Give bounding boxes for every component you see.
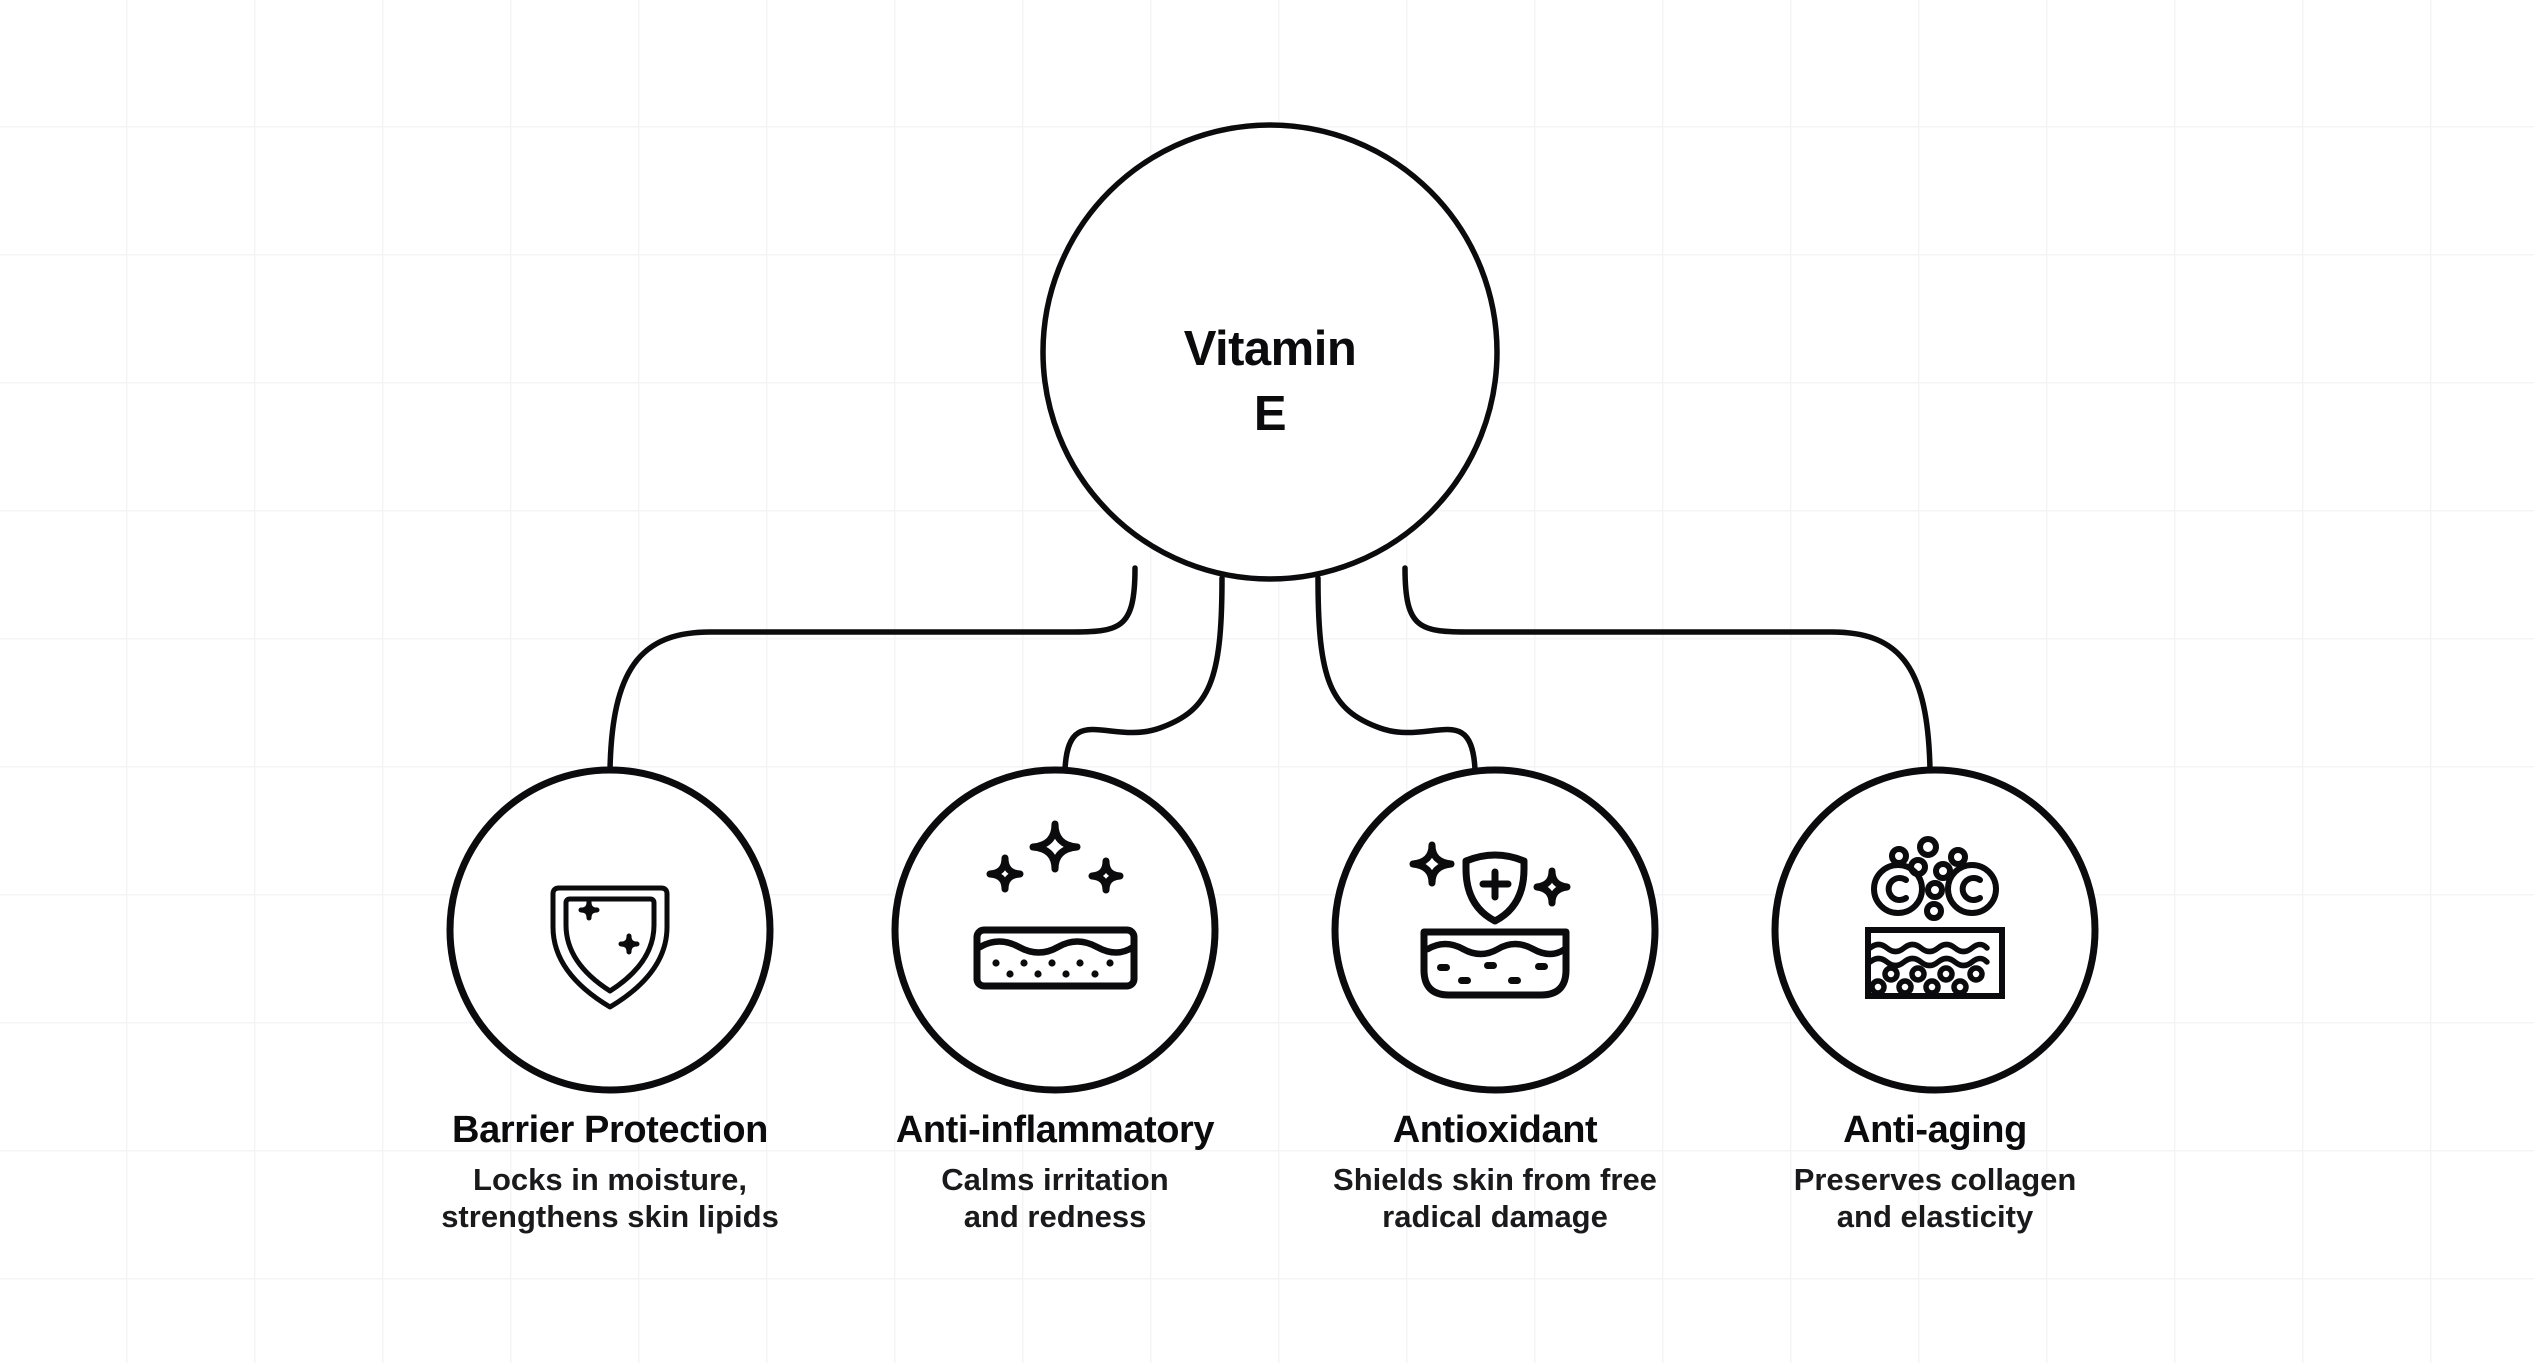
branch-title-anti-aging: Anti-aging bbox=[1843, 1109, 2027, 1151]
connector-group bbox=[610, 568, 1930, 770]
branch-node-anti-inflammatory[interactable]: Anti-inflammatory Calms irritation and r… bbox=[895, 770, 1215, 1234]
center-node-label-line2: E bbox=[1254, 387, 1286, 441]
center-node-vitamin-e[interactable]: Vitamin E bbox=[1043, 125, 1497, 579]
branch-desc-line1-antioxidant: Shields skin from free bbox=[1333, 1162, 1657, 1197]
diagram-canvas: Vitamin E Barrier Protection Locks in mo… bbox=[0, 0, 2534, 1363]
branch-circle-barrier-protection bbox=[450, 770, 770, 1090]
branch-title-barrier-protection: Barrier Protection bbox=[452, 1109, 768, 1151]
connector-to-anti-aging bbox=[1405, 568, 1930, 770]
branch-desc-line2-anti-aging: and elasticity bbox=[1837, 1199, 2034, 1234]
branch-node-anti-aging[interactable]: Anti-aging Preserves collagen and elasti… bbox=[1775, 770, 2095, 1234]
vitamin-e-benefits-diagram: Vitamin E Barrier Protection Locks in mo… bbox=[0, 0, 2534, 1363]
connector-to-antioxidant bbox=[1318, 578, 1475, 770]
branch-desc-line2-barrier-protection: strengthens skin lipids bbox=[441, 1199, 779, 1234]
center-node-label-line1: Vitamin bbox=[1184, 322, 1357, 376]
branch-desc-line2-antioxidant: radical damage bbox=[1382, 1199, 1608, 1234]
branch-node-antioxidant[interactable]: Antioxidant Shields skin from free radic… bbox=[1333, 770, 1657, 1234]
branch-desc-line1-anti-inflammatory: Calms irritation bbox=[941, 1162, 1168, 1197]
branch-desc-line1-anti-aging: Preserves collagen bbox=[1794, 1162, 2077, 1197]
branch-title-antioxidant: Antioxidant bbox=[1393, 1109, 1598, 1151]
branch-desc-line2-anti-inflammatory: and redness bbox=[964, 1199, 1147, 1234]
branch-title-anti-inflammatory: Anti-inflammatory bbox=[896, 1109, 1215, 1151]
connector-to-anti-inflammatory bbox=[1065, 578, 1222, 770]
branch-desc-line1-barrier-protection: Locks in moisture, bbox=[473, 1162, 747, 1197]
connector-to-barrier-protection bbox=[610, 568, 1135, 770]
branch-node-barrier-protection[interactable]: Barrier Protection Locks in moisture, st… bbox=[441, 770, 779, 1234]
